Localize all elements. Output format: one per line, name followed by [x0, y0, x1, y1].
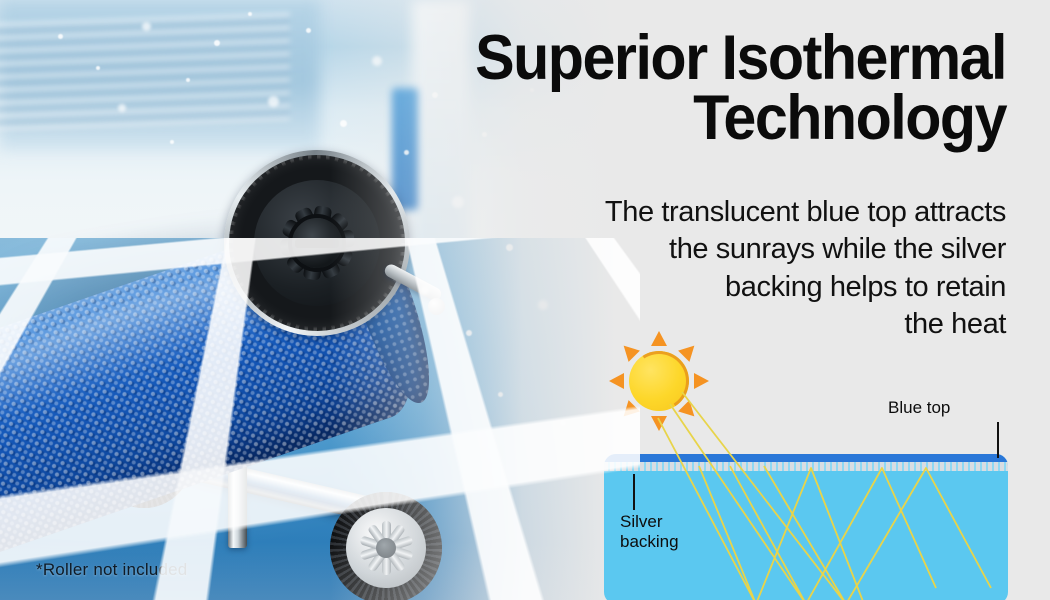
page-title: Superior Isothermal Technology [329, 28, 1006, 149]
light-ray-bounce-2 [730, 466, 936, 600]
label-blue-top: Blue top [888, 398, 950, 418]
label-silver-backing: Silver backing [620, 512, 679, 552]
description-line-2: the sunrays while the silver [466, 231, 1006, 268]
leader-line-silver-backing [633, 474, 635, 510]
light-ray-bounce-3 [764, 466, 991, 600]
description-text: The translucent blue top attracts the su… [466, 194, 1006, 344]
promo-banner: *Roller not included Superior Isothermal… [0, 0, 1050, 600]
description-line-1: The translucent blue top attracts [466, 194, 1006, 231]
label-silver-backing-line-2: backing [620, 532, 679, 551]
leader-line-blue-top [997, 422, 999, 458]
description-line-3: backing helps to retain [466, 269, 1006, 306]
headline-line-2: Technology [329, 88, 1006, 148]
photo-fade-bottom [0, 470, 640, 600]
light-ray-bounce-1 [699, 466, 864, 600]
footnote-roller-not-included: *Roller not included [36, 560, 187, 580]
pool-wall-lines [0, 13, 290, 133]
label-silver-backing-line-1: Silver [620, 512, 663, 531]
isothermal-diagram: Blue top Silver backing [596, 326, 1050, 600]
description-line-4: the heat [466, 306, 1006, 343]
light-ray-paths [596, 326, 1050, 600]
